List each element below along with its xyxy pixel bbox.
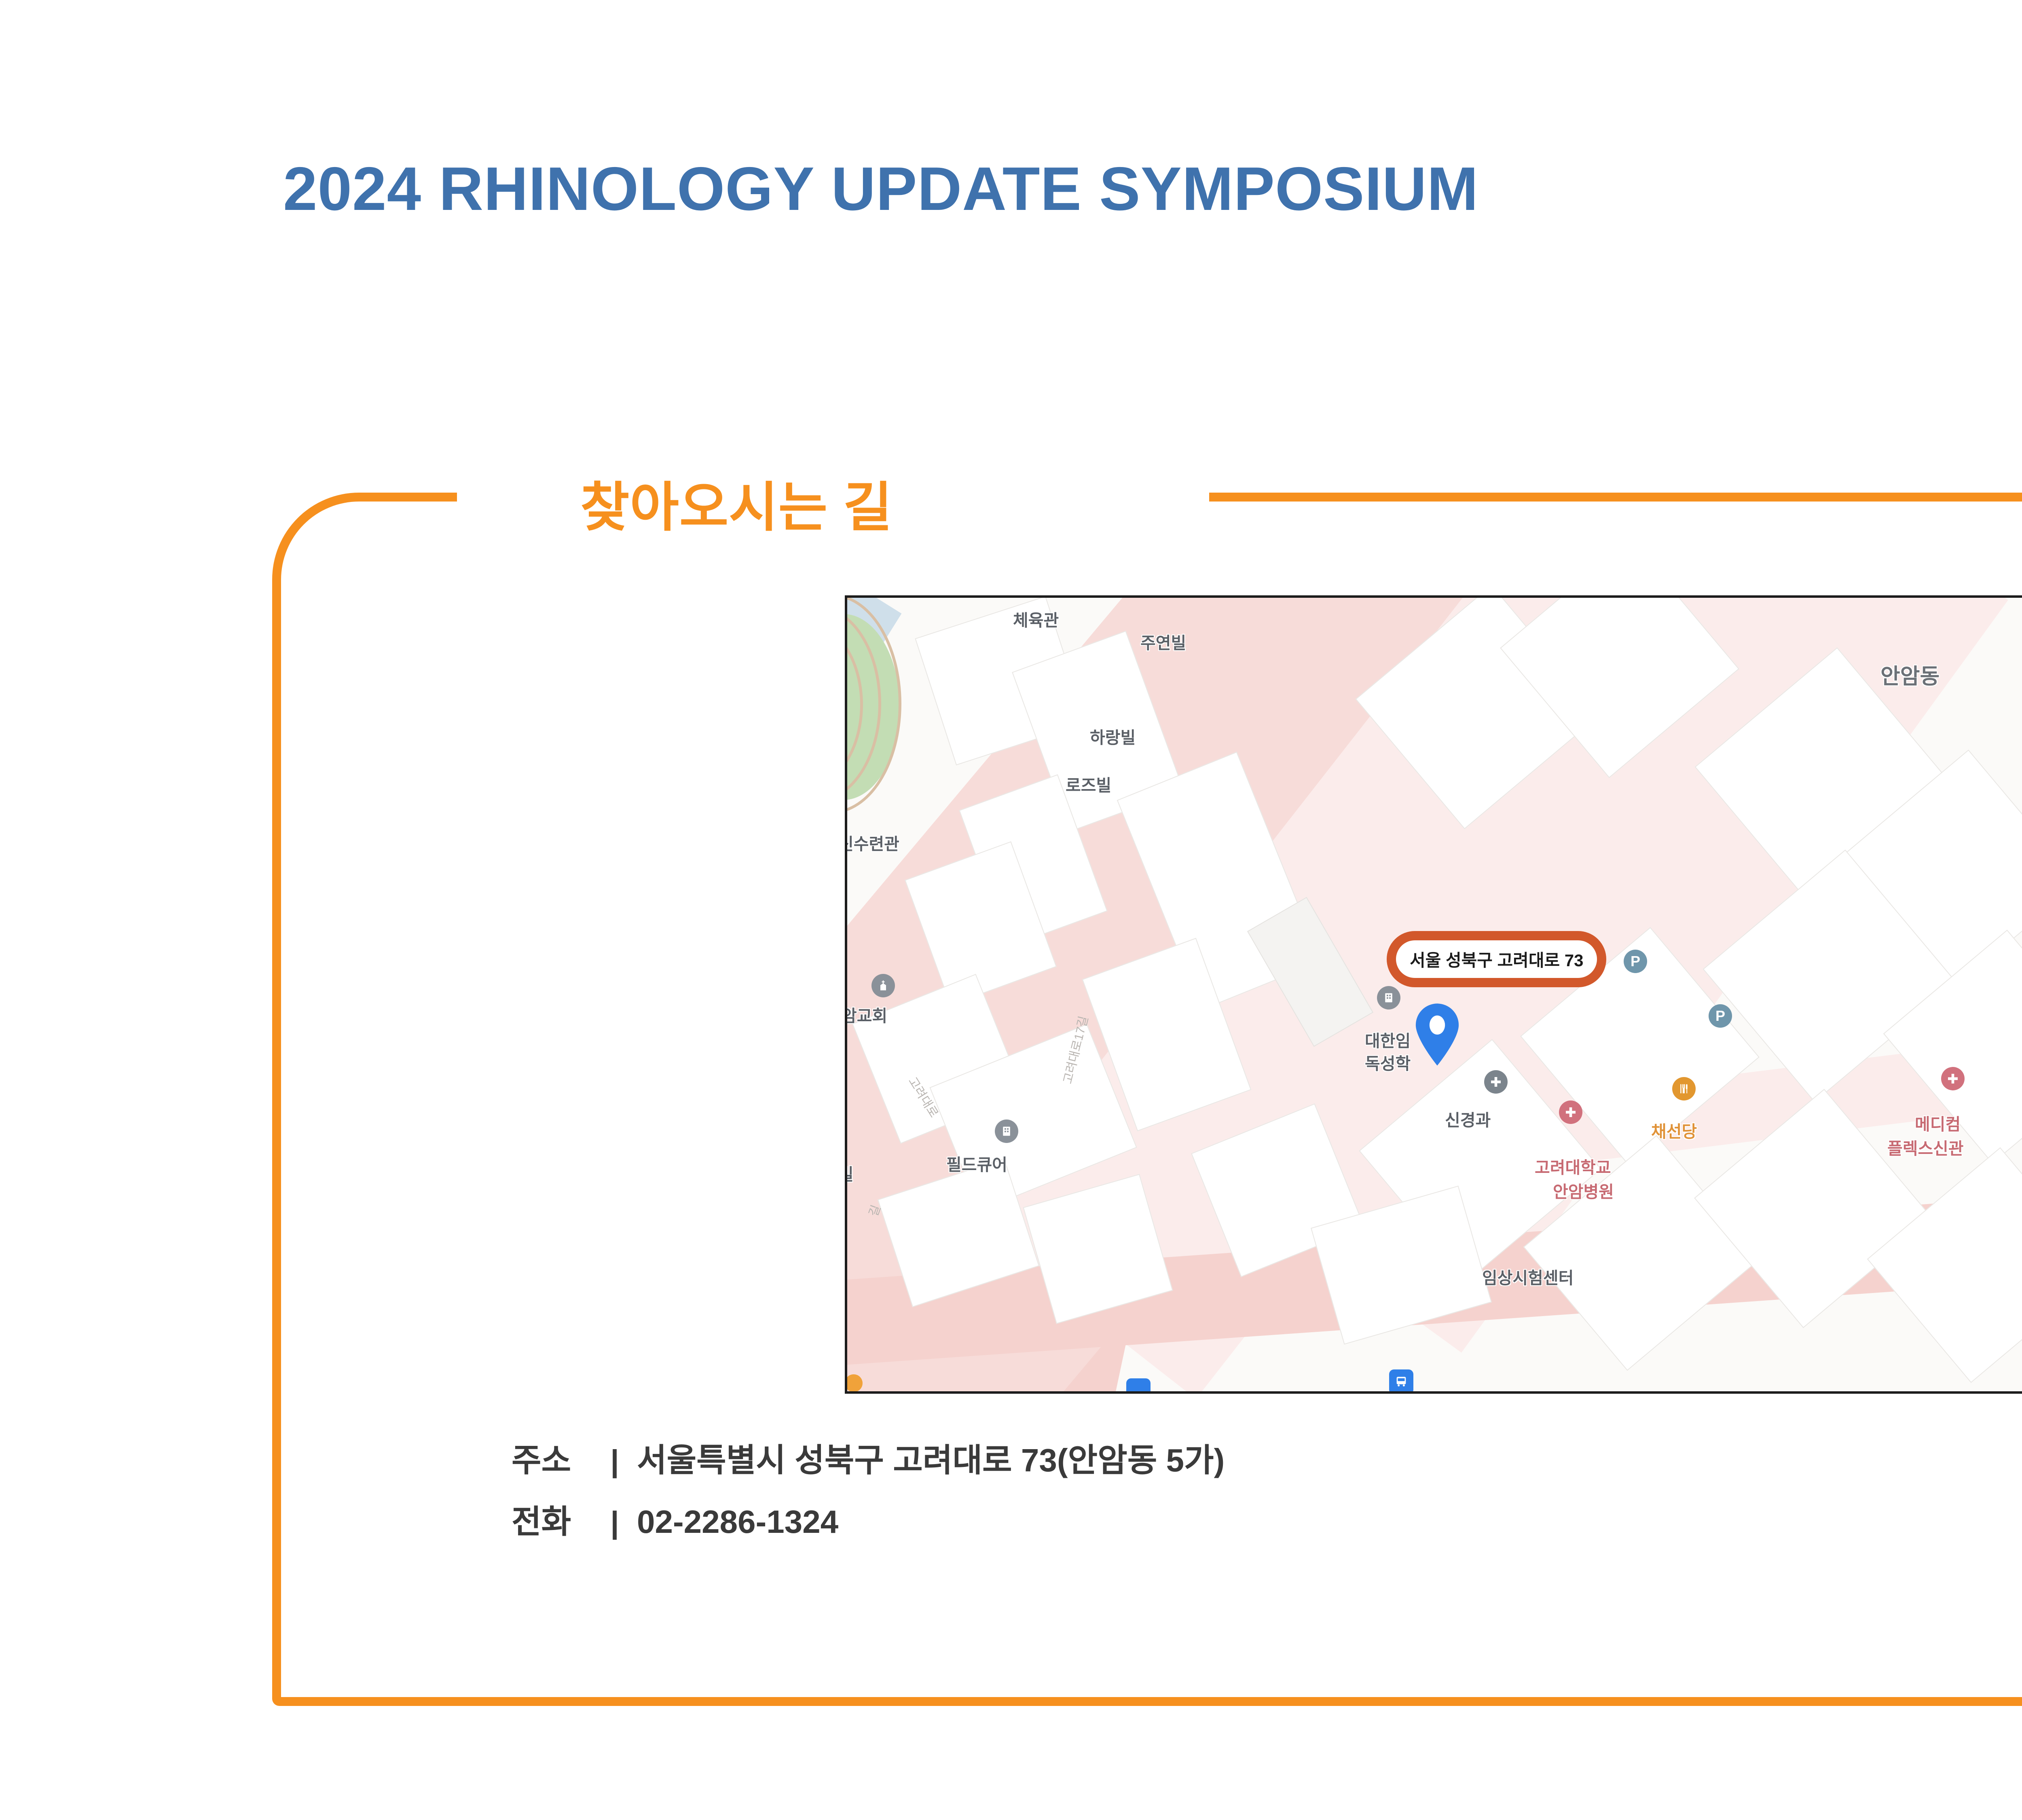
map-label: 빌 [847, 1161, 854, 1185]
hospital-icon[interactable] [1941, 1067, 1965, 1090]
map-label: 주연빌 [1140, 629, 1186, 654]
map-frame[interactable]: 고려대로 고려대로17길 길 P P 체육 [845, 595, 2022, 1394]
restaurant-icon[interactable] [1672, 1077, 1696, 1100]
map-address-tooltip[interactable]: 서울 성북구 고려대로 73 [1387, 931, 1606, 987]
page-title: 2024 RHINOLOGY UPDATE SYMPOSIUM [283, 154, 1478, 224]
map-label: 고려대학교 [1535, 1154, 1611, 1178]
section-heading: 찾아오시는 길 [580, 464, 893, 542]
map-canvas[interactable]: 고려대로 고려대로17길 길 P P 체육 [847, 598, 2022, 1391]
hospital-icon[interactable] [1559, 1100, 1582, 1124]
map-label: 안암병원 [1553, 1178, 1614, 1202]
map-poi-dot [847, 1374, 863, 1391]
location-pin-icon[interactable] [1413, 1002, 1461, 1067]
phone-separator: | [592, 1505, 637, 1540]
map-label-district: 안암동 [1880, 659, 1940, 690]
map-label: 독성학 [1365, 1050, 1411, 1074]
parking-icon[interactable]: P [1709, 1004, 1732, 1028]
map-label: 플렉스신관 [1887, 1135, 1964, 1159]
map-label: 신수련관 [847, 830, 899, 855]
map-label: 대한임 [1365, 1027, 1411, 1052]
map-label: 암교회 [847, 1002, 887, 1026]
building-icon[interactable] [995, 1120, 1018, 1143]
map-label: 체육관 [1013, 607, 1059, 631]
address-separator: | [592, 1443, 637, 1479]
map-label: 채선당 [1651, 1118, 1697, 1142]
phone-label: 전화 [512, 1496, 592, 1543]
map-label: 메디컴 [1915, 1111, 1961, 1135]
map-label: 필드큐어 [946, 1151, 1007, 1175]
bus-stop-icon[interactable] [1126, 1378, 1151, 1391]
contact-details: 주소 | 서울특별시 성북구 고려대로 73(안암동 5가) 전화 | 02-2… [512, 1434, 1225, 1557]
address-label: 주소 [512, 1434, 592, 1481]
parking-icon[interactable]: P [1624, 950, 1647, 973]
bus-stop-icon[interactable] [1389, 1369, 1413, 1391]
detail-row-phone: 전화 | 02-2286-1324 [512, 1496, 1225, 1543]
building-icon[interactable] [1377, 986, 1400, 1009]
phone-value: 02-2286-1324 [637, 1503, 838, 1541]
detail-row-address: 주소 | 서울특별시 성북구 고려대로 73(안암동 5가) [512, 1434, 1225, 1481]
map-label: 로즈빌 [1066, 772, 1111, 796]
church-icon[interactable] [871, 974, 895, 997]
address-value: 서울특별시 성북구 고려대로 73(안암동 5가) [637, 1434, 1225, 1481]
clinic-icon[interactable] [1484, 1070, 1508, 1094]
map-label: 하랑빌 [1090, 724, 1136, 748]
map-label: 신경과 [1445, 1107, 1491, 1131]
map-label: 임상시험센터 [1482, 1264, 1574, 1289]
